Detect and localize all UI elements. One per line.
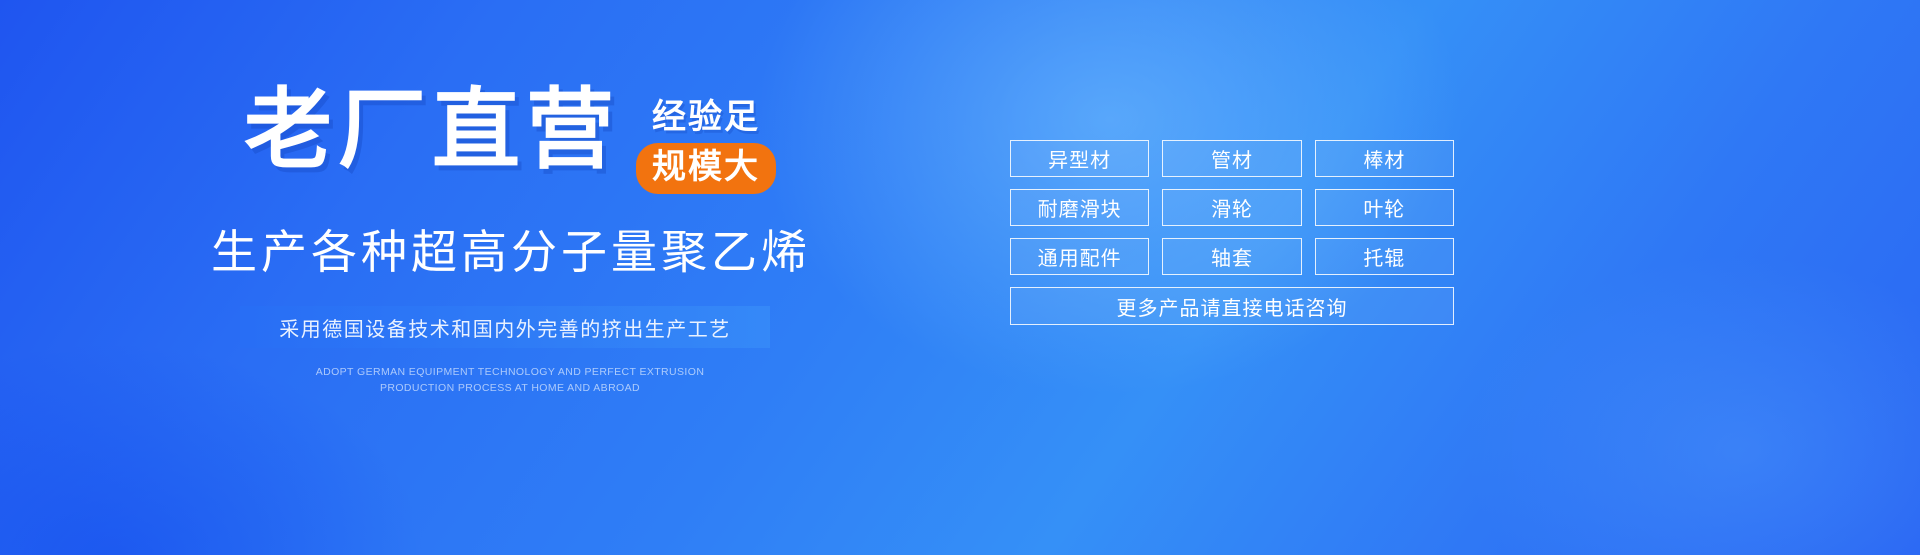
product-button-hualun[interactable]: 滑轮 [1162, 189, 1301, 226]
banner-left-copy: 老厂直营 经验足 规模大 生产各种超高分子量聚乙烯 采用德国设备技术和国内外完善… [0, 86, 1010, 397]
product-button-row-2: 耐磨滑块 滑轮 叶轮 [1010, 189, 1454, 226]
product-button-label: 棒材 [1363, 144, 1405, 173]
tagline-bar: 采用德国设备技术和国内外完善的挤出生产工艺 [240, 306, 770, 348]
contact-cta-button[interactable]: 更多产品请直接电话咨询 [1010, 287, 1454, 325]
promo-banner: 老厂直营 经验足 规模大 生产各种超高分子量聚乙烯 采用德国设备技术和国内外完善… [0, 0, 1920, 555]
product-button-row-3: 通用配件 轴套 托辊 [1010, 238, 1454, 275]
product-button-tongyongpeijian[interactable]: 通用配件 [1010, 238, 1149, 275]
product-button-yelun[interactable]: 叶轮 [1315, 189, 1454, 226]
product-button-label: 异型材 [1048, 144, 1111, 173]
product-button-label: 通用配件 [1038, 242, 1122, 271]
product-button-row-1: 异型材 管材 棒材 [1010, 140, 1454, 177]
english-subtitle: ADOPT GERMAN EQUIPMENT TECHNOLOGY AND PE… [0, 364, 1010, 397]
badge-scale: 规模大 [636, 143, 776, 194]
product-button-grid: 异型材 管材 棒材 耐磨滑块 滑轮 叶轮 [1010, 140, 1454, 325]
product-button-label: 叶轮 [1363, 193, 1405, 222]
product-button-label: 轴套 [1211, 242, 1253, 271]
product-button-yixingcai[interactable]: 异型材 [1010, 140, 1149, 177]
headline-main: 老厂直营 [244, 86, 620, 174]
headline-badges: 经验足 规模大 [636, 98, 776, 194]
product-button-naimohuakuai[interactable]: 耐磨滑块 [1010, 189, 1149, 226]
subheadline: 生产各种超高分子量聚乙烯 [0, 216, 1010, 282]
english-subtitle-line2: PRODUCTION PROCESS AT HOME AND ABROAD [10, 380, 1010, 396]
english-subtitle-line1: ADOPT GERMAN EQUIPMENT TECHNOLOGY AND PE… [10, 364, 1010, 380]
product-button-label: 滑轮 [1211, 193, 1253, 222]
product-button-guancai[interactable]: 管材 [1162, 140, 1301, 177]
headline-row: 老厂直营 经验足 规模大 [0, 86, 1010, 194]
banner-content: 老厂直营 经验足 规模大 生产各种超高分子量聚乙烯 采用德国设备技术和国内外完善… [0, 0, 1920, 555]
product-button-zhoutao[interactable]: 轴套 [1162, 238, 1301, 275]
product-button-label: 管材 [1211, 144, 1253, 173]
tagline-text: 采用德国设备技术和国内外完善的挤出生产工艺 [279, 313, 731, 342]
product-button-label: 耐磨滑块 [1038, 193, 1122, 222]
product-button-tuogun[interactable]: 托辊 [1315, 238, 1454, 275]
badge-experience: 经验足 [652, 98, 760, 137]
product-button-label: 托辊 [1363, 242, 1405, 271]
contact-cta-label: 更多产品请直接电话咨询 [1117, 292, 1348, 321]
product-button-bangcai[interactable]: 棒材 [1315, 140, 1454, 177]
